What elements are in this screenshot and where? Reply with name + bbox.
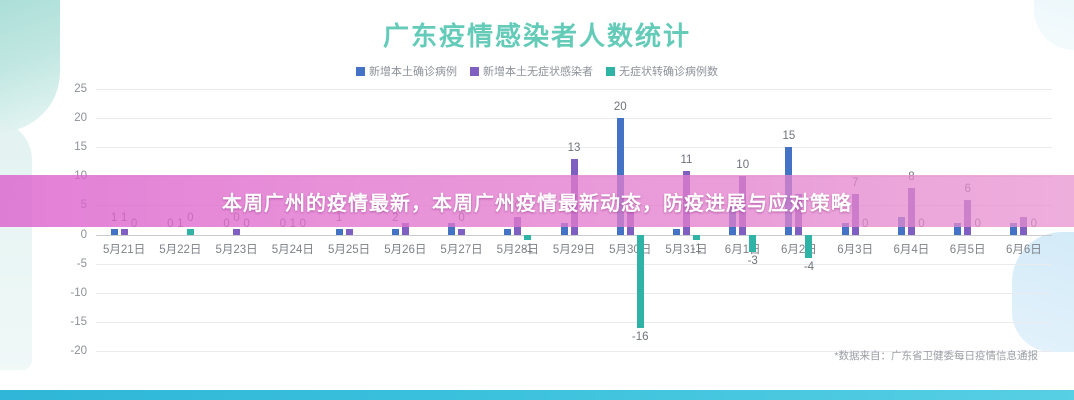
x-axis-tick-label: 5月21日 [103, 241, 145, 257]
chart-bar[interactable] [336, 229, 343, 235]
bar-value-label: 13 [568, 142, 581, 154]
bar-value-label: -3 [748, 255, 758, 267]
overlay-headline-band: 本周广州的疫情最新，本周广州疫情最新动态，防疫进展与应对策略 [0, 175, 1074, 227]
chart-bar[interactable] [524, 235, 531, 241]
legend-item[interactable]: 无症状转确诊病例数 [606, 63, 718, 79]
bar-value-label: 20 [614, 101, 627, 113]
x-axis-tick-label: 5月30日 [609, 241, 651, 257]
chart-bar[interactable] [673, 229, 680, 235]
grid-line [96, 322, 1052, 323]
y-axis-tick-label: -15 [70, 316, 96, 328]
y-axis-tick-label: 0 [81, 229, 96, 241]
bar-value-label: -4 [804, 261, 814, 273]
grid-line [96, 89, 1052, 90]
chart-bar[interactable] [121, 229, 128, 235]
x-axis-tick-label: 5月22日 [159, 241, 201, 257]
bar-value-label: 11 [680, 154, 692, 166]
grid-line [96, 293, 1052, 294]
legend-label: 无症状转确诊病例数 [619, 63, 718, 79]
chart-bar[interactable] [233, 229, 240, 235]
legend-label: 新增本土确诊病例 [369, 63, 457, 79]
x-axis-tick-label: 5月25日 [328, 241, 370, 257]
x-axis-tick-label: 6月3日 [837, 241, 873, 257]
chart-page: 广东疫情感染者人数统计 新增本土确诊病例新增本土无症状感染者无症状转确诊病例数 … [0, 0, 1074, 400]
y-axis-tick-label: -20 [70, 345, 96, 357]
y-axis-tick-label: 20 [74, 112, 96, 124]
x-axis-tick-label: 6月6日 [1006, 241, 1042, 257]
legend-swatch-icon [606, 67, 615, 76]
chart-title: 广东疫情感染者人数统计 [0, 16, 1074, 53]
chart-footnote: *数据来自：广东省卫健委每日疫情信息通报 [834, 348, 1038, 363]
chart-bar[interactable] [749, 235, 756, 252]
grid-line [96, 264, 1052, 265]
legend-swatch-icon [470, 67, 479, 76]
x-axis-tick-label: 5月23日 [215, 241, 257, 257]
bar-value-label: 10 [736, 159, 749, 171]
legend-label: 新增本土无症状感染者 [483, 63, 593, 79]
bar-value-label: -16 [632, 331, 649, 343]
legend-item[interactable]: 新增本土无症状感染者 [470, 63, 593, 79]
chart-bar[interactable] [458, 229, 465, 235]
bottom-accent-bar [0, 390, 1074, 400]
x-axis-tick-label: 6月5日 [950, 241, 986, 257]
decorative-blob-left [0, 120, 32, 370]
y-axis-tick-label: 25 [74, 83, 96, 95]
y-axis-tick-label: -10 [70, 287, 96, 299]
overlay-headline-text: 本周广州的疫情最新，本周广州疫情最新动态，防疫进展与应对策略 [222, 187, 852, 216]
chart-bar[interactable] [805, 235, 812, 258]
chart-bar[interactable] [504, 229, 511, 235]
bar-value-label: -1 [523, 243, 533, 255]
bar-value-label: 15 [783, 130, 796, 142]
chart-legend: 新增本土确诊病例新增本土无症状感染者无症状转确诊病例数 [0, 63, 1074, 79]
chart-bar[interactable] [111, 229, 118, 235]
chart-bar[interactable] [637, 235, 644, 328]
chart-bar[interactable] [187, 229, 194, 235]
bar-value-label: -1 [691, 243, 701, 255]
grid-line [96, 118, 1052, 119]
x-axis-tick-label: 5月24日 [272, 241, 314, 257]
x-axis-tick-label: 6月4日 [894, 241, 930, 257]
chart-bar[interactable] [346, 229, 353, 235]
x-axis-tick-label: 5月27日 [440, 241, 482, 257]
y-axis-tick-label: 15 [74, 141, 96, 153]
chart-bar[interactable] [693, 235, 700, 241]
legend-swatch-icon [356, 67, 365, 76]
chart-bar[interactable] [392, 229, 399, 235]
y-axis-tick-label: -5 [77, 258, 96, 270]
legend-item[interactable]: 新增本土确诊病例 [356, 63, 457, 79]
zero-axis-line [96, 235, 1052, 236]
x-axis-tick-label: 5月29日 [553, 241, 595, 257]
x-axis-tick-label: 5月26日 [384, 241, 426, 257]
